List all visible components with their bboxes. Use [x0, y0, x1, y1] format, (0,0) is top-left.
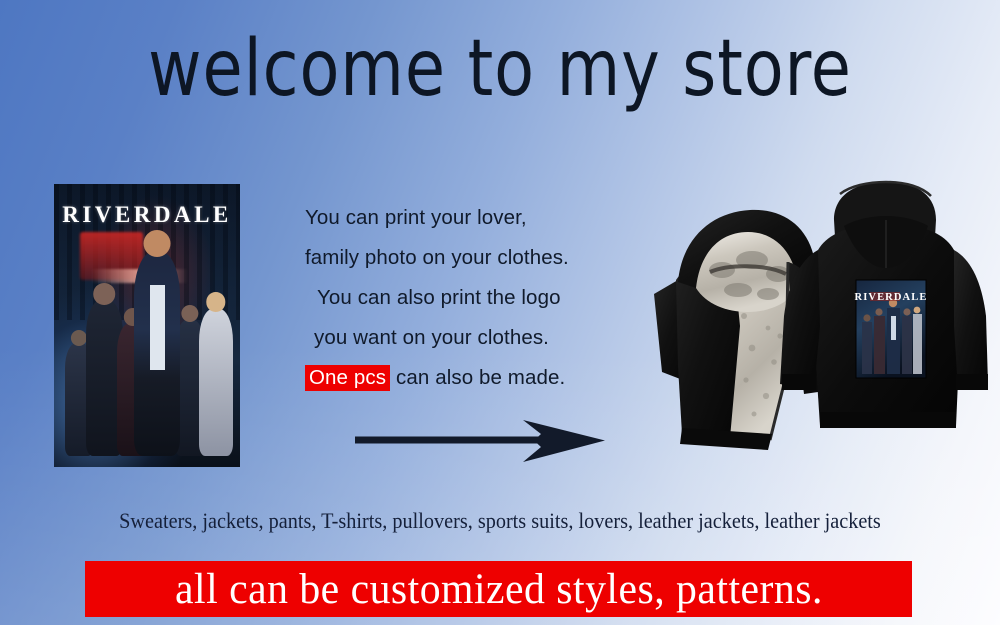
customization-banner: all can be customized styles, patterns. [85, 561, 912, 617]
hoodie-riverdale-print: RIVERDALE [855, 280, 928, 378]
riverdale-poster-image: RIVERDALE [54, 184, 240, 467]
poster-figure-far-right [199, 309, 232, 456]
poster-figure-lead [134, 252, 181, 456]
copy-line-2: family photo on your clothes. [305, 238, 655, 278]
page-title: welcome to my store [35, 26, 965, 112]
copy-line-4: you want on your clothes. [305, 318, 655, 358]
product-list-text: Sweaters, jackets, pants, T-shirts, pull… [40, 508, 960, 534]
right-arrow-icon [355, 418, 605, 466]
hoodie-print-title: RIVERDALE [855, 292, 928, 303]
customization-banner-text: all can be customized styles, patterns. [175, 565, 823, 614]
copy-line-3: You can also print the logo [305, 278, 655, 318]
copy-line-5-rest: can also be made. [396, 366, 565, 389]
copy-line-5: One pcscan also be made. [305, 358, 655, 398]
one-pcs-highlight: One pcs [305, 365, 390, 391]
promo-banner: welcome to my store RIVERDALE You [0, 0, 1000, 625]
marketing-copy: You can print your lover, family photo o… [305, 198, 655, 398]
hoodie-product-photos: RIVERDALE [648, 176, 988, 486]
copy-line-1: You can print your lover, [305, 198, 655, 238]
poster-title-text: RIVERDALE [54, 202, 240, 228]
